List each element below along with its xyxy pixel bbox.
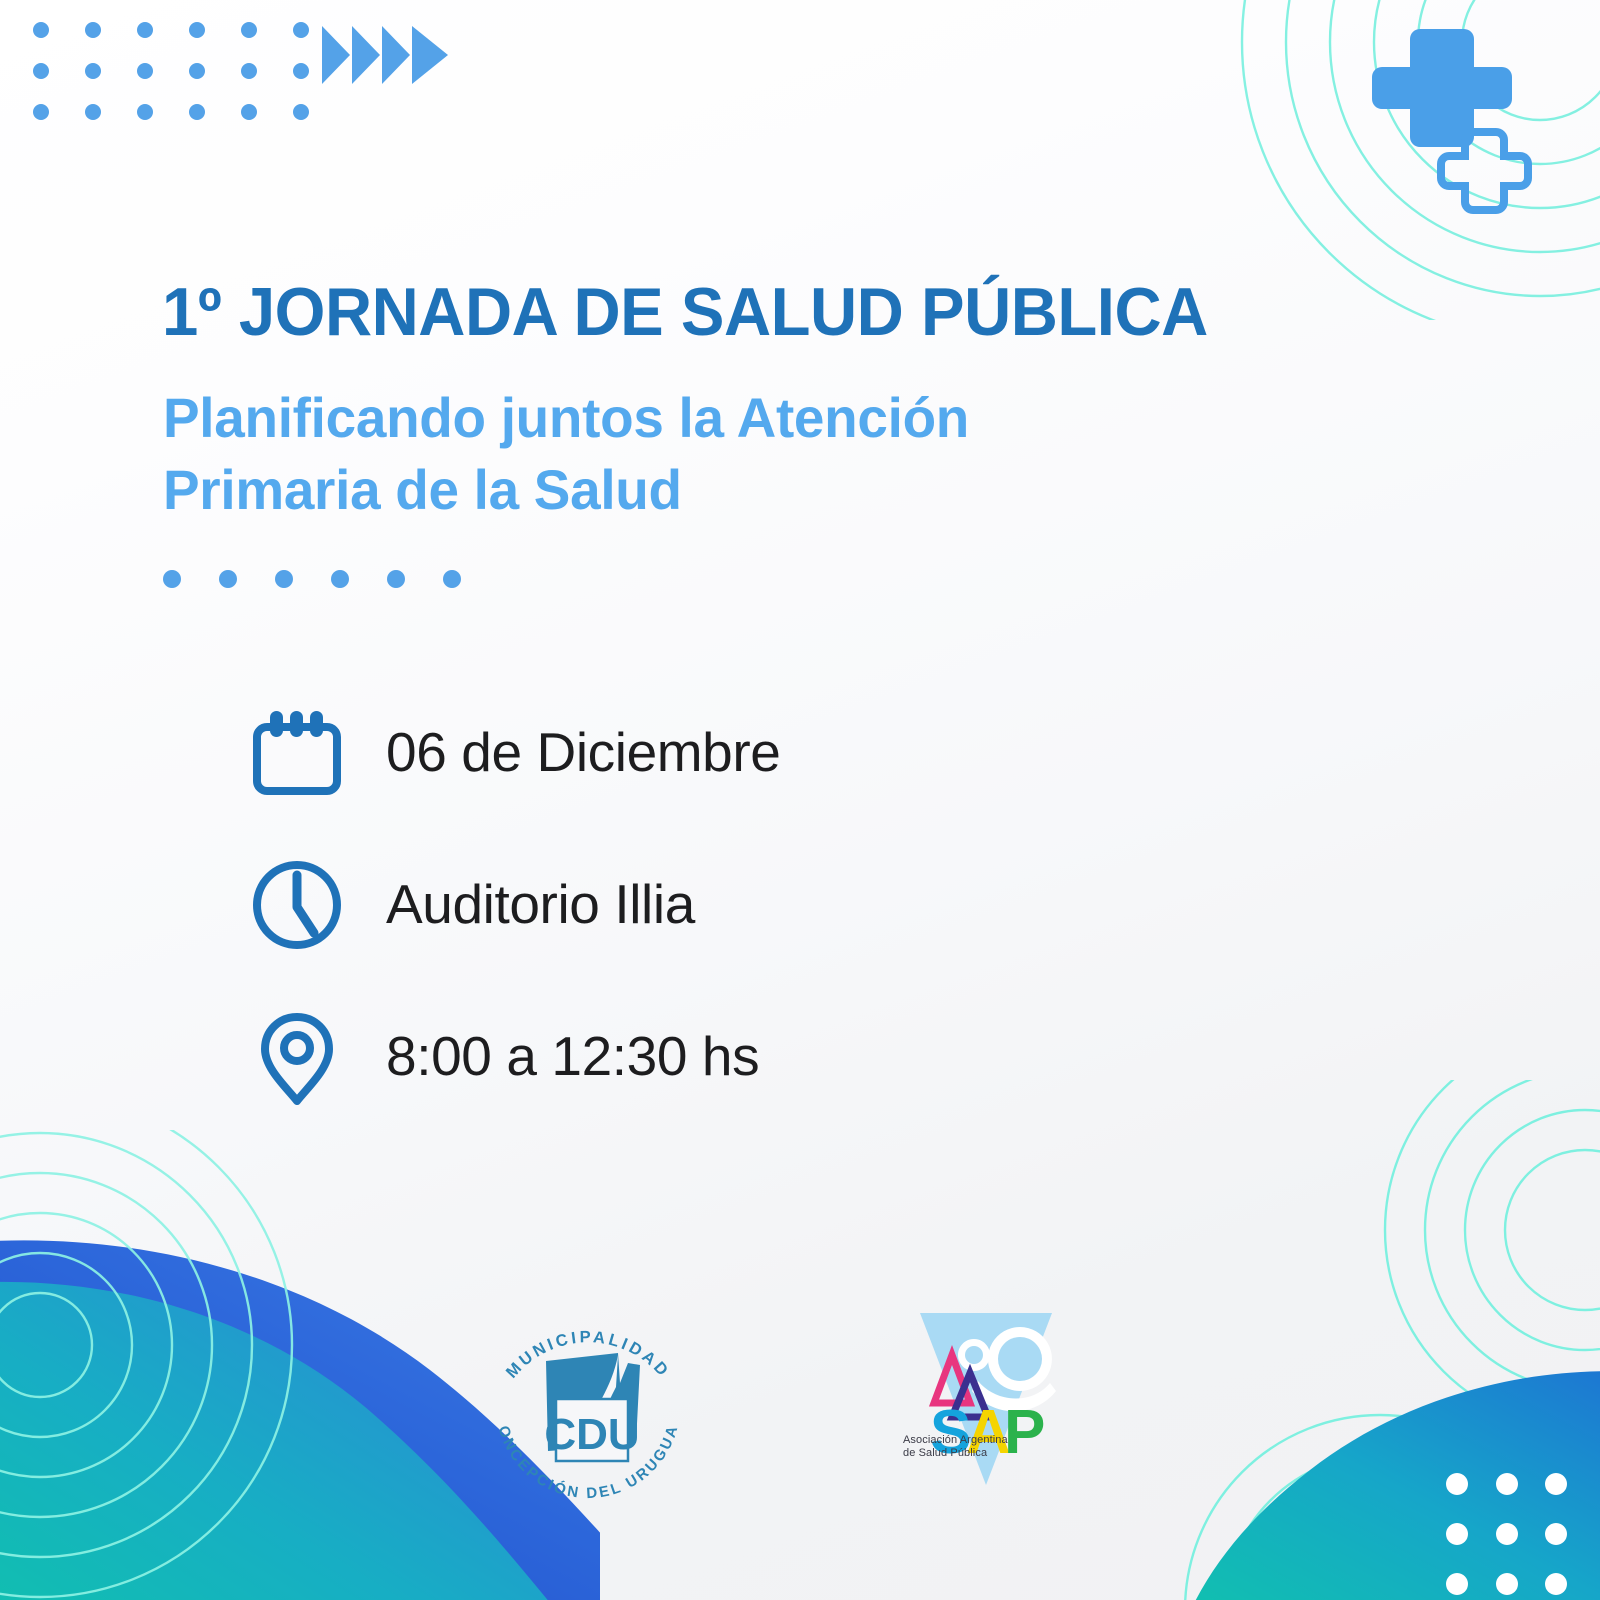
divider-dots	[163, 570, 461, 588]
page-title: 1º JORNADA DE SALUD PÚBLICA	[162, 278, 1410, 346]
poster-canvas: 1º JORNADA DE SALUD PÚBLICA Planificando…	[0, 0, 1600, 1600]
detail-text-time: 8:00 a 12:30 hs	[386, 1024, 759, 1088]
cdu-logo: MUNICIPALIDAD CONCEPCIÓN DEL URUGUAY CDU	[468, 1291, 708, 1531]
subtitle-line-1: Planificando juntos la Atención	[163, 382, 1388, 454]
dot	[219, 570, 237, 588]
subtitle-line-2: Primaria de la Salud	[163, 454, 1388, 526]
logo-row: MUNICIPALIDAD CONCEPCIÓN DEL URUGUAY CDU…	[0, 1285, 1600, 1535]
detail-text-venue: Auditorio Illia	[386, 872, 695, 936]
map-pin-icon	[248, 1007, 348, 1105]
aasap-logo: S A P	[900, 1285, 1070, 1515]
aasap-caption: Asociación Argentina de Salud Pública	[903, 1434, 1038, 1460]
dot	[387, 570, 405, 588]
event-details-list: 06 de Diciembre Auditorio Illia	[248, 676, 780, 1132]
dot	[443, 570, 461, 588]
dot	[331, 570, 349, 588]
aasap-caption-line-1: Asociación Argentina	[903, 1434, 1038, 1447]
dot	[163, 570, 181, 588]
dot	[275, 570, 293, 588]
cdu-monogram: CDU	[544, 1410, 639, 1459]
page-subtitle: Planificando juntos la Atención Primaria…	[163, 382, 1388, 525]
calendar-icon	[248, 703, 348, 801]
clock-icon	[248, 855, 348, 953]
detail-row-date: 06 de Diciembre	[248, 676, 780, 828]
detail-row-venue: Auditorio Illia	[248, 828, 780, 980]
aasap-caption-line-2: de Salud Pública	[903, 1447, 1038, 1460]
detail-row-time: 8:00 a 12:30 hs	[248, 980, 780, 1132]
detail-text-date: 06 de Diciembre	[386, 720, 780, 784]
